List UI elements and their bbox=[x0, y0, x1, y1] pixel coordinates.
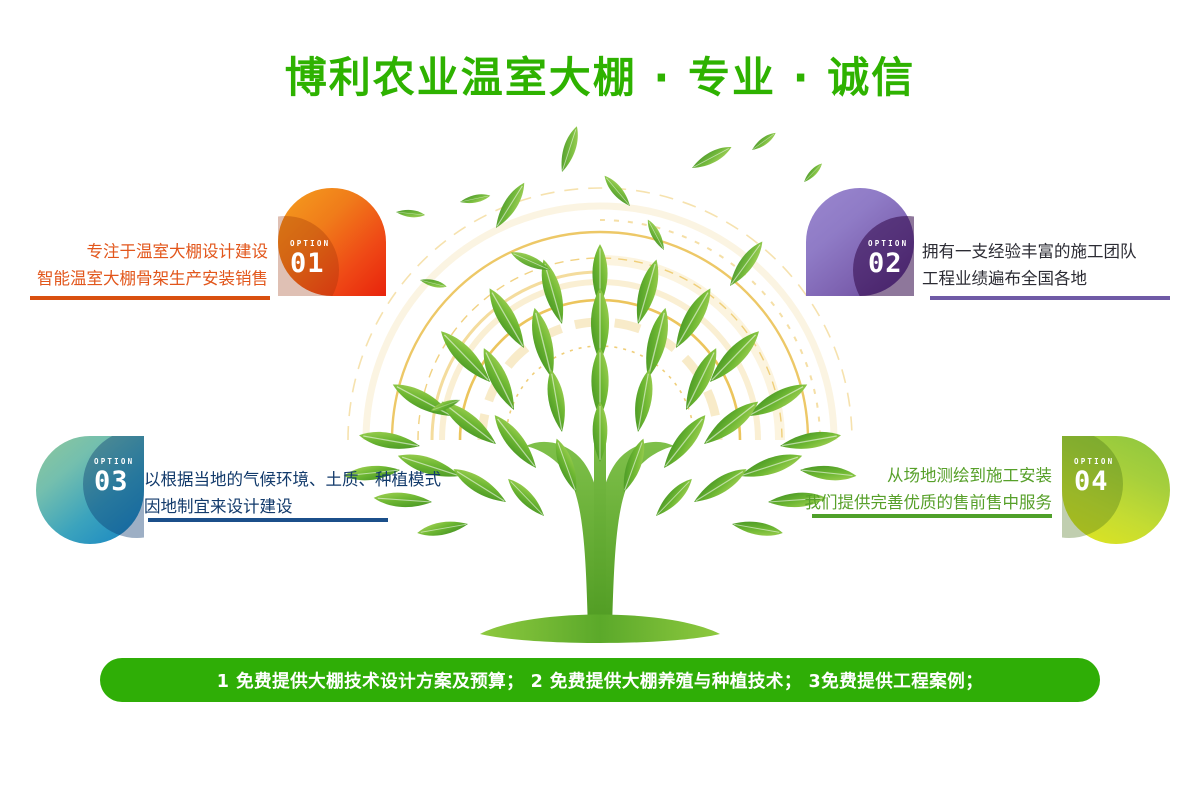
services-banner: 1 免费提供大棚技术设计方案及预算； 2 免费提供大棚养殖与种植技术； 3免费提… bbox=[100, 658, 1100, 702]
page-title: 博利农业温室大棚 · 专业 · 诚信 bbox=[0, 44, 1200, 105]
badge-label: OPTION 01 bbox=[290, 240, 330, 277]
option-line-1: 从场地测绘到施工安装 bbox=[786, 462, 1052, 489]
option-underline-01 bbox=[30, 296, 270, 300]
option-text-03: 以根据当地的气候环境、土质、种植模式 因地制宜来设计建设 bbox=[144, 466, 441, 520]
option-line-1: 以根据当地的气候环境、土质、种植模式 bbox=[144, 466, 441, 493]
badge-option-word: OPTION bbox=[1074, 458, 1114, 466]
option-line-2: 因地制宜来设计建设 bbox=[144, 493, 441, 520]
services-banner-text: 1 免费提供大棚技术设计方案及预算； 2 免费提供大棚养殖与种植技术； 3免费提… bbox=[217, 668, 983, 693]
option-line-1: 专注于温室大棚设计建设 bbox=[0, 238, 268, 265]
option-line-1: 拥有一支经验丰富的施工团队 bbox=[922, 238, 1190, 265]
badge-option-word: OPTION bbox=[94, 458, 134, 466]
promo-banner-page: 博利农业温室大棚 · 专业 · 诚信 bbox=[0, 0, 1200, 785]
badge-label: OPTION 04 bbox=[1074, 458, 1114, 495]
badge-number: 02 bbox=[868, 250, 908, 277]
badge-option-word: OPTION bbox=[868, 240, 908, 248]
option-text-01: 专注于温室大棚设计建设 智能温室大棚骨架生产安装销售 bbox=[0, 238, 268, 292]
option-line-2: 工程业绩遍布全国各地 bbox=[922, 265, 1190, 292]
badge-label: OPTION 03 bbox=[94, 458, 134, 495]
option-badge-01[interactable]: OPTION 01 bbox=[278, 188, 386, 296]
option-line-2: 我们提供完善优质的售前售中服务 bbox=[786, 489, 1052, 516]
badge-option-word: OPTION bbox=[290, 240, 330, 248]
option-text-02: 拥有一支经验丰富的施工团队 工程业绩遍布全国各地 bbox=[922, 238, 1190, 292]
badge-number: 03 bbox=[94, 468, 134, 495]
badge-number: 01 bbox=[290, 250, 330, 277]
option-badge-04[interactable]: OPTION 04 bbox=[1062, 436, 1170, 544]
badge-number: 04 bbox=[1074, 468, 1114, 495]
option-underline-03 bbox=[148, 518, 388, 522]
option-line-2: 智能温室大棚骨架生产安装销售 bbox=[0, 265, 268, 292]
option-badge-03[interactable]: OPTION 03 bbox=[36, 436, 144, 544]
option-badge-02[interactable]: OPTION 02 bbox=[806, 188, 914, 296]
option-text-04: 从场地测绘到施工安装 我们提供完善优质的售前售中服务 bbox=[786, 462, 1052, 516]
option-underline-04 bbox=[812, 514, 1052, 518]
badge-label: OPTION 02 bbox=[868, 240, 908, 277]
option-underline-02 bbox=[930, 296, 1170, 300]
